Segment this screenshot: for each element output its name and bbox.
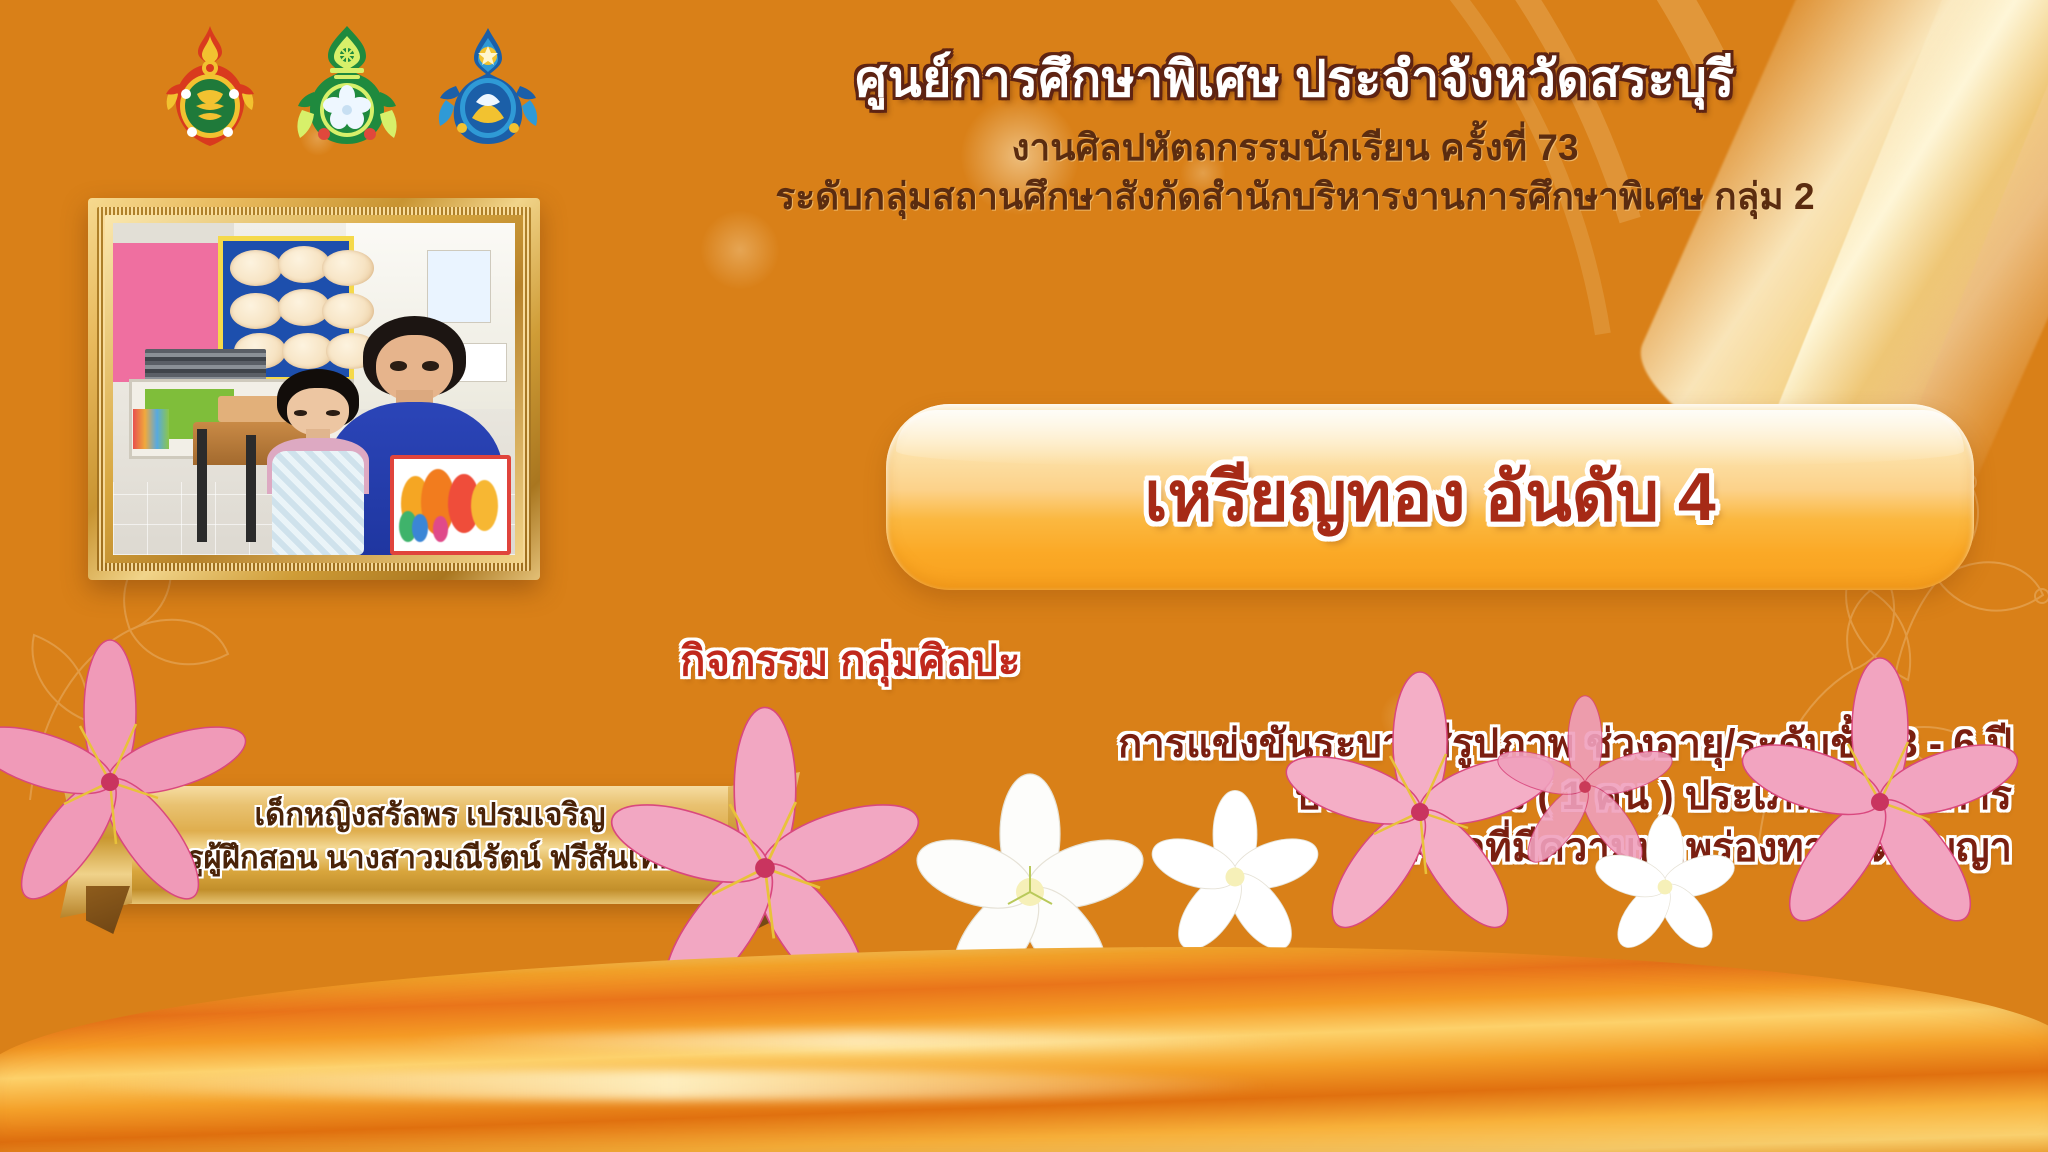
gold-silk-drape	[0, 912, 2048, 1152]
organization-title: ศูนย์การศึกษาพิเศษ ประจำจังหวัดสระบุรี	[560, 52, 2030, 106]
saraburi-special-education-center-emblem	[428, 22, 548, 150]
event-line-2: ระดับกลุ่มสถานศึกษาสังกัดสำนักบริหารงานก…	[560, 173, 2030, 220]
event-line-1: งานศิลปหัตถกรรมนักเรียน ครั้งที่ 73	[560, 124, 2030, 171]
student-figure	[258, 369, 379, 555]
activity-detail-line: การแข่งขันระบายสีรูปภาพ ช่วงอายุ/ระดับชั…	[672, 718, 2012, 770]
award-badge: เหรียญทอง อันดับ 4	[886, 404, 1974, 590]
classroom-photo	[113, 223, 515, 555]
award-label: เหรียญทอง อันดับ 4	[1144, 463, 1716, 531]
photo-frame	[88, 198, 540, 580]
ministry-of-education-emblem	[150, 22, 270, 150]
name-banner: เด็กหญิงสรัลพร เปรมเจริญ ครูผู้ฝึกสอน นา…	[60, 786, 800, 904]
activity-detail-line: บุคคลที่มีความบกพร่องทางสติปัญญา	[672, 822, 2012, 874]
bokeh-light	[700, 210, 780, 290]
childs-drawing	[390, 455, 511, 555]
student-name: เด็กหญิงสรัลพร เปรมเจริญ	[100, 794, 760, 837]
teacher-name: ครูผู้ฝึกสอน นางสาวมณีรัตน์ ฟรีสันเทียะ	[100, 837, 760, 880]
header-block: ศูนย์การศึกษาพิเศษ ประจำจังหวัดสระบุรี ง…	[560, 52, 2030, 221]
activity-label: กิจกรรม กลุ่มศิลปะ	[680, 640, 1020, 682]
activity-detail-line: ประเภท เดี่ยว ( 1 คน ) ประเภทความพิการ	[672, 770, 2012, 822]
emblem-row	[150, 22, 550, 152]
certificate-poster: ศูนย์การศึกษาพิเศษ ประจำจังหวัดสระบุรี ง…	[0, 0, 2048, 1152]
activity-details: การแข่งขันระบายสีรูปภาพ ช่วงอายุ/ระดับชั…	[672, 718, 2012, 874]
special-education-bureau-emblem	[288, 22, 406, 150]
award-pill: เหรียญทอง อันดับ 4	[886, 404, 1974, 590]
